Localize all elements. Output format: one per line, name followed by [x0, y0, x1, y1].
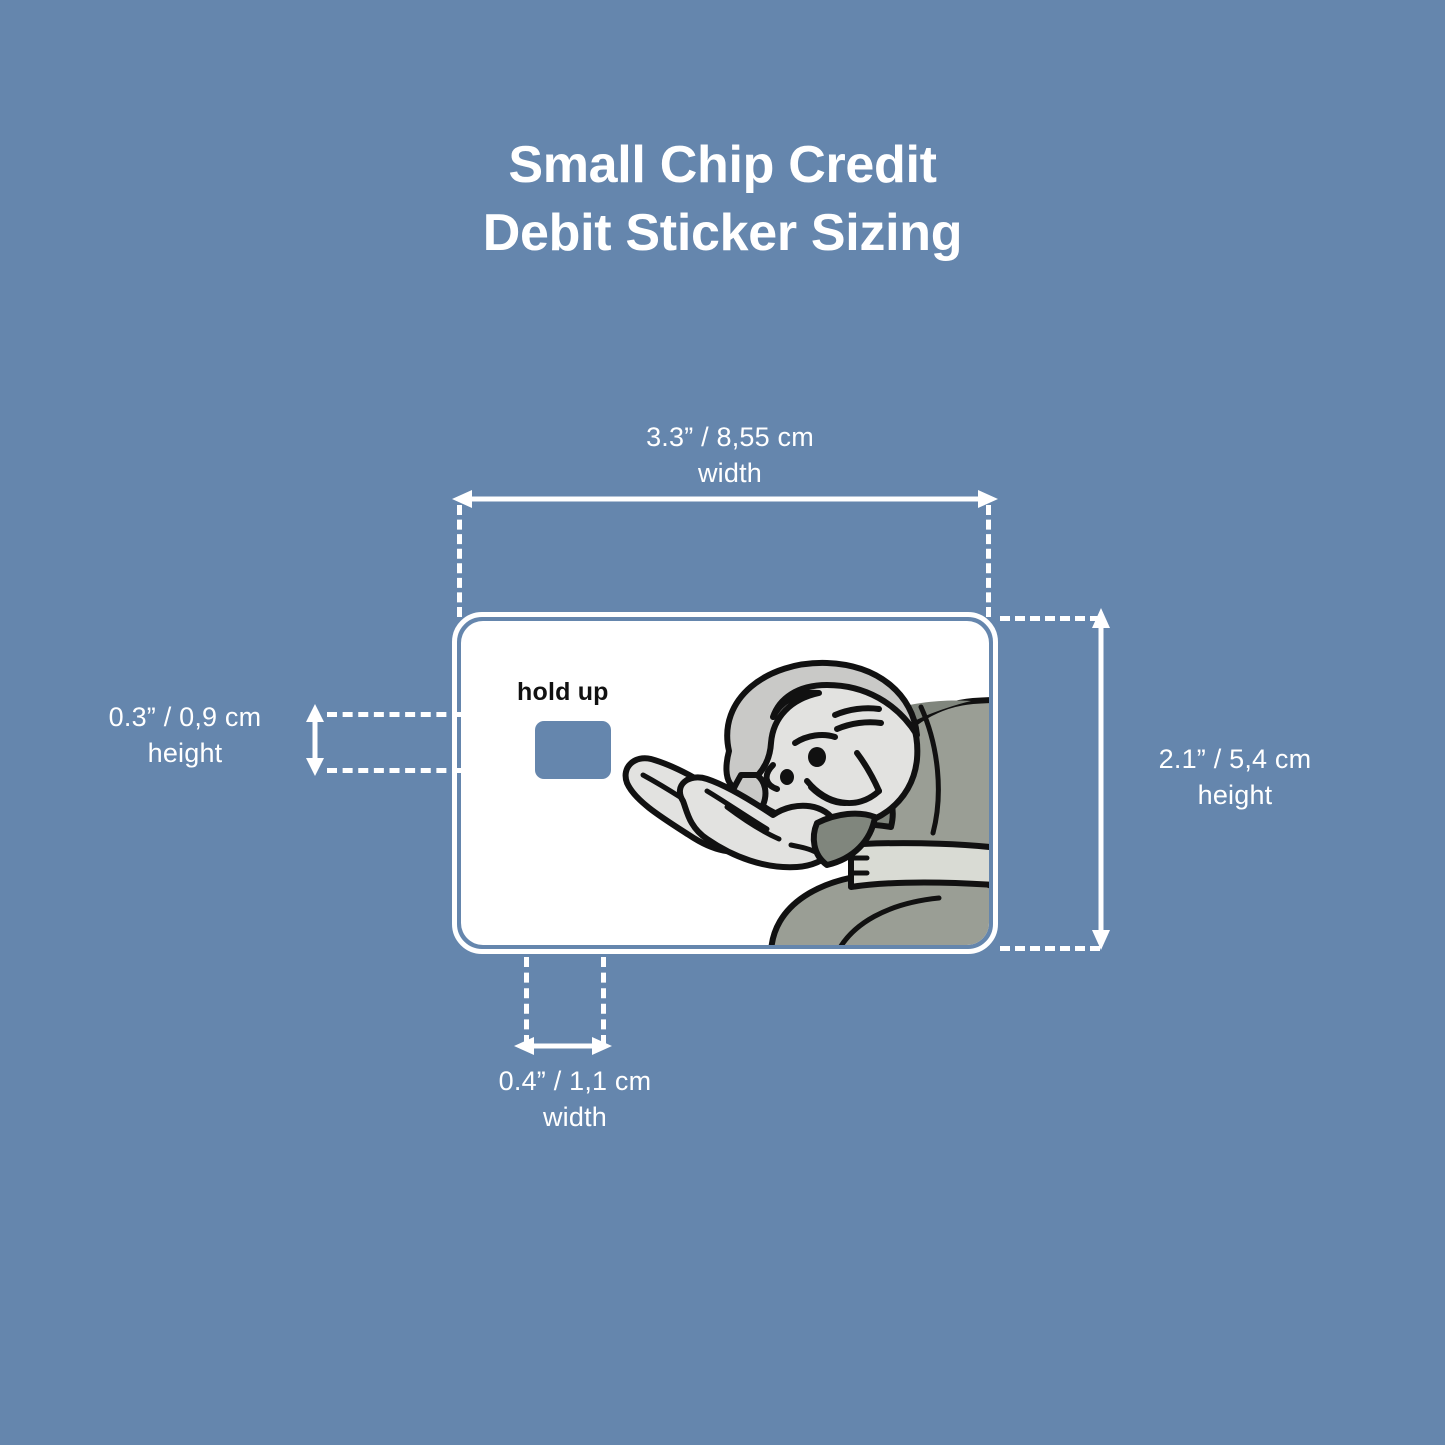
double-arrow-horizontal-icon-chip-width: [514, 1034, 612, 1058]
page-title: Small Chip Credit Debit Sticker Sizing: [0, 132, 1445, 267]
double-arrow-vertical-icon-card-height: [1089, 608, 1113, 950]
dashed-leader-line-chip-width-left: [524, 957, 529, 1045]
dashed-leader-line-card-height-top: [1000, 616, 1100, 621]
dashed-leader-line-card-width-left: [457, 505, 462, 617]
chip-width-label: 0.4” / 1,1 cm width: [440, 1064, 710, 1136]
card-face: hold up .ol { stroke:#111111; stroke-wid…: [461, 621, 989, 945]
double-arrow-vertical-icon-chip-height: [303, 704, 327, 776]
sizing-diagram-canvas: Small Chip Credit Debit Sticker Sizing 3…: [0, 0, 1445, 1445]
card-width-label: 3.3” / 8,55 cm width: [545, 420, 915, 492]
dashed-leader-line-card-height-bottom: [1000, 946, 1100, 951]
double-arrow-horizontal-icon-card-width: [452, 487, 998, 511]
card-height-label: 2.1” / 5,4 cm height: [1110, 742, 1360, 814]
dashed-leader-line-chip-height-bottom: [327, 768, 462, 773]
dashed-leader-line-chip-height-top: [327, 712, 462, 717]
credit-card-preview: hold up .ol { stroke:#111111; stroke-wid…: [452, 612, 998, 954]
dashed-leader-line-card-width-right: [986, 505, 991, 617]
chip-height-label: 0.3” / 0,9 cm height: [60, 700, 310, 772]
chip-cutout: [535, 721, 611, 779]
vault-boy-hold-up-illustration: .ol { stroke:#111111; stroke-width:6; st…: [621, 655, 989, 945]
dashed-leader-line-chip-width-right: [601, 957, 606, 1045]
card-caption-text: hold up: [517, 678, 609, 707]
